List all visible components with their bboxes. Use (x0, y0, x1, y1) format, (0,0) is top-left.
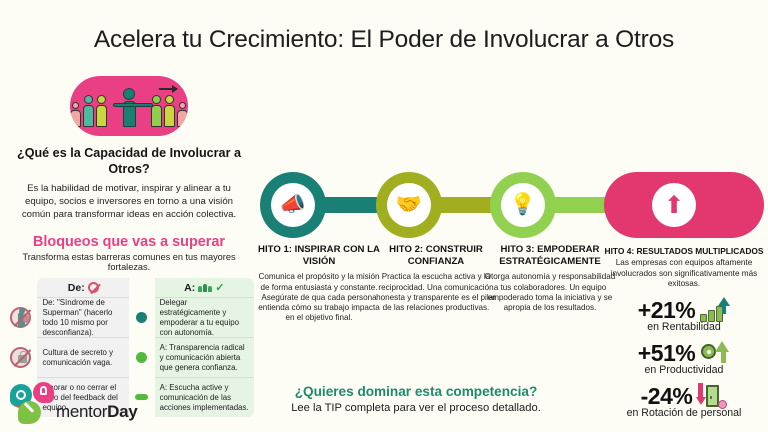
door-exit-down-icon (697, 383, 727, 409)
gear-arrow-icon (700, 340, 730, 366)
page-title: Acelera tu Crecimiento: El Poder de Invo… (0, 26, 768, 54)
stat-rotacion: -24% en Rotación de personal (600, 383, 768, 419)
milestone-title: HITO 1: INSPIRAR CON LA VISIÓN (258, 244, 380, 267)
milestone-timeline: 📣 🤝 💡 ⬆ (258, 172, 768, 238)
blockers-subtitle: Transforma estas barreras comunes en tus… (0, 252, 258, 272)
timeline-connector (318, 197, 380, 213)
table-row (129, 337, 155, 377)
results-title: HITO 4: RESULTADOS MULTIPLICADOS (600, 246, 768, 256)
superman-blocked-icon (10, 307, 31, 328)
lock-blocked-icon (10, 347, 31, 368)
left-column: ¿Qué es la Capacidad de Involucrar a Otr… (0, 76, 258, 417)
table-row: De: "Síndrome de Superman" (hacerlo todo… (37, 297, 129, 337)
blocker-to-text: A: Escucha active y comunicación de las … (160, 383, 249, 412)
logo-text-light: mentor (56, 402, 107, 421)
mentorday-logo[interactable]: mentorDay (8, 382, 138, 426)
check-icon: ✓ (215, 281, 224, 294)
milestone-title: HITO 3: EMPODERAR ESTRATÉGICAMENTE (484, 244, 616, 267)
milestone-body: Practica la escucha activa y la reciproc… (376, 272, 496, 313)
infographic-canvas: Acelera tu Crecimiento: El Poder de Invo… (0, 0, 768, 432)
timeline-connector (548, 197, 610, 213)
results-subtitle: Las empresas con equipos aftamente invol… (600, 258, 768, 290)
from-header-label: De: (68, 282, 85, 294)
table-row (4, 337, 37, 377)
blocker-to-text: A: Transparencia radical y comunicación … (160, 343, 249, 372)
to-header-label: A: (184, 282, 195, 294)
timeline-node-hito-4[interactable]: ⬆ (604, 172, 764, 238)
milestone-3: HITO 3: EMPODERAR ESTRATÉGICAMENTE Otorg… (484, 244, 616, 313)
table-row (129, 297, 155, 337)
transition-dot-icon (136, 312, 147, 323)
cta-title: ¿Quieres dominar esta competencia? (248, 384, 584, 399)
lightbulb-bubble-icon (33, 382, 54, 403)
pencil-bubble-icon (18, 401, 41, 424)
blocker-to-text: Delegar estratégicamente y empoderar a t… (160, 298, 249, 337)
timeline-connector (434, 197, 494, 213)
no-entry-icon (88, 282, 99, 293)
results-panel: HITO 4: RESULTADOS MULTIPLICADOS Las emp… (600, 246, 768, 419)
people-group-icon (198, 284, 212, 292)
stat-value: +51% (638, 340, 695, 367)
stat-value: -24% (641, 383, 693, 410)
milestone-1: HITO 1: INSPIRAR CON LA VISIÓN Comunica … (258, 244, 380, 323)
timeline-node-hito-1[interactable]: 📣 (260, 172, 326, 238)
hero-description: Es la habilidad de motivar, inspirar y a… (14, 183, 244, 221)
megaphone-audience-icon: 📣 (271, 183, 315, 227)
stat-value: +21% (638, 297, 695, 324)
milestone-title: HITO 2: CONSTRUIR CONFIANZA (376, 244, 496, 267)
table-row (4, 297, 37, 337)
table-row: A: Escucha active y comunicación de las … (155, 377, 254, 417)
milestone-2: HITO 2: CONSTRUIR CONFIANZA Practica la … (376, 244, 496, 313)
table-row: Delegar estratégicamente y empoderar a t… (155, 297, 254, 337)
cta-block: ¿Quieres dominar esta competencia? Lee l… (248, 384, 584, 414)
blockers-from-header: De: (37, 278, 129, 297)
timeline-node-hito-3[interactable]: 💡 (490, 172, 556, 238)
transition-dot-icon (136, 352, 147, 363)
logo-text-bold: Day (107, 402, 137, 421)
blockers-title: Bloqueos que vas a superar (0, 234, 258, 250)
arrow-icon (159, 88, 177, 90)
blocker-from-text: De: "Síndrome de Superman" (hacerlo todo… (42, 298, 124, 337)
stat-productividad: +51% en Productividad (600, 340, 768, 376)
blockers-to-header: A: ✓ (155, 278, 254, 297)
hero-question: ¿Qué es la Capacidad de Involucrar a Otr… (0, 146, 258, 177)
stat-rentabilidad: +21% en Rentabilidad (600, 297, 768, 333)
milestone-body: Otorga autonomía y responsabilidad a tus… (484, 272, 616, 313)
milestone-body: Comunica el propósito y la misión de for… (258, 272, 380, 323)
cta-subtitle: Lee la TIP completa para ver el proceso … (248, 402, 584, 414)
growth-arrows-icon: ⬆ (652, 183, 696, 227)
empowered-person-icon: 💡 (501, 183, 545, 227)
timeline-node-hito-2[interactable]: 🤝 (376, 172, 442, 238)
blockers-to-column: A: ✓ Delegar estratégicamente y empodera… (155, 278, 254, 417)
logo-text: mentorDay (56, 402, 137, 422)
blocker-from-text: Cultura de secreto y comunicación vaga. (42, 348, 124, 368)
stat-label: en Rentabilidad (600, 321, 768, 333)
team-leader-icon (70, 76, 188, 136)
coins-growth-icon (700, 297, 730, 323)
handshake-unlock-icon: 🤝 (387, 183, 431, 227)
table-row: A: Transparencia radical y comunicación … (155, 337, 254, 377)
stat-label: en Rotación de personal (600, 407, 768, 419)
stat-label: en Productividad (600, 364, 768, 376)
table-row: Cultura de secreto y comunicación vaga. (37, 337, 129, 377)
